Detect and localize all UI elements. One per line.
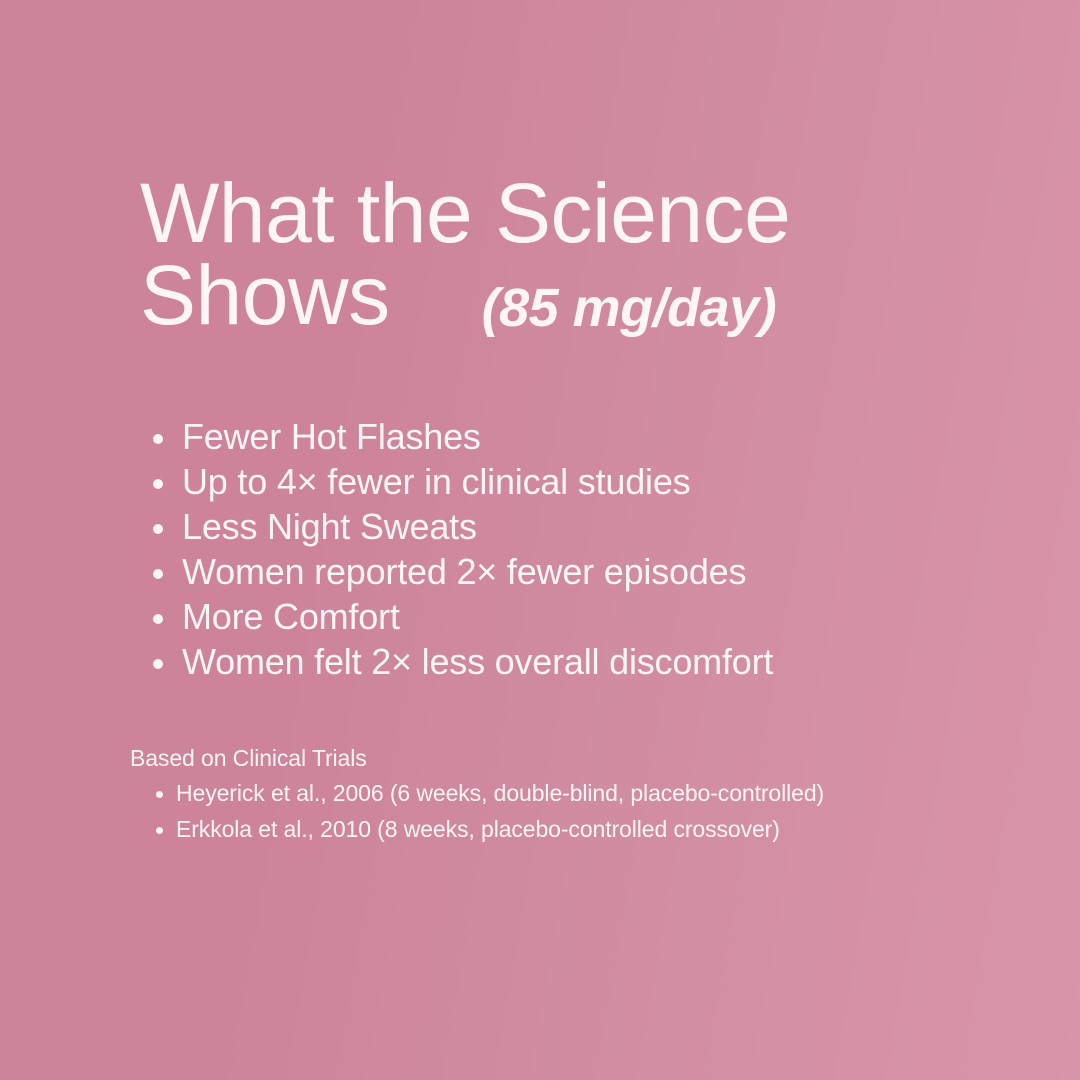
benefit-text: Women reported 2× fewer episodes (182, 551, 746, 592)
sources-heading: Based on Clinical Trials (130, 744, 920, 773)
benefit-text: Women felt 2× less overall discomfort (182, 641, 773, 682)
sources-list: Heyerick et al., 2006 (6 weeks, double-b… (130, 779, 920, 845)
title-block: What the Science Shows (85 mg/day) (140, 172, 960, 337)
benefit-text: Fewer Hot Flashes (182, 416, 481, 457)
benefit-text: More Comfort (182, 596, 400, 637)
slide-canvas: What the Science Shows (85 mg/day) Fewer… (0, 0, 1080, 1080)
bullet-icon (153, 659, 163, 669)
bullet-icon (156, 827, 163, 834)
list-item: Women felt 2× less overall discomfort (148, 641, 978, 682)
source-citation: Erkkola et al., 2010 (8 weeks, placebo-c… (176, 816, 780, 842)
bullet-icon (153, 524, 163, 534)
bullet-icon (153, 479, 163, 489)
list-item: More Comfort (148, 596, 978, 637)
page-title-line-2: Shows (140, 254, 390, 336)
list-item: Heyerick et al., 2006 (6 weeks, double-b… (152, 779, 920, 809)
list-item: Less Night Sweats (148, 506, 978, 547)
source-citation: Heyerick et al., 2006 (6 weeks, double-b… (176, 780, 824, 806)
benefit-text: Up to 4× fewer in clinical studies (182, 461, 690, 502)
bullet-icon (153, 569, 163, 579)
title-line-2-row: Shows (85 mg/day) (140, 254, 960, 336)
list-item: Women reported 2× fewer episodes (148, 551, 978, 592)
bullet-icon (153, 434, 163, 444)
sources-block: Based on Clinical Trials Heyerick et al.… (130, 744, 920, 851)
list-item: Fewer Hot Flashes (148, 416, 978, 457)
benefit-text: Less Night Sweats (182, 506, 477, 547)
list-item: Up to 4× fewer in clinical studies (148, 461, 978, 502)
bullet-icon (156, 791, 163, 798)
list-item: Erkkola et al., 2010 (8 weeks, placebo-c… (152, 815, 920, 845)
benefits-list: Fewer Hot Flashes Up to 4× fewer in clin… (148, 416, 978, 686)
page-title-line-1: What the Science (140, 172, 960, 254)
dosage-label: (85 mg/day) (482, 281, 777, 335)
bullet-icon (153, 614, 163, 624)
